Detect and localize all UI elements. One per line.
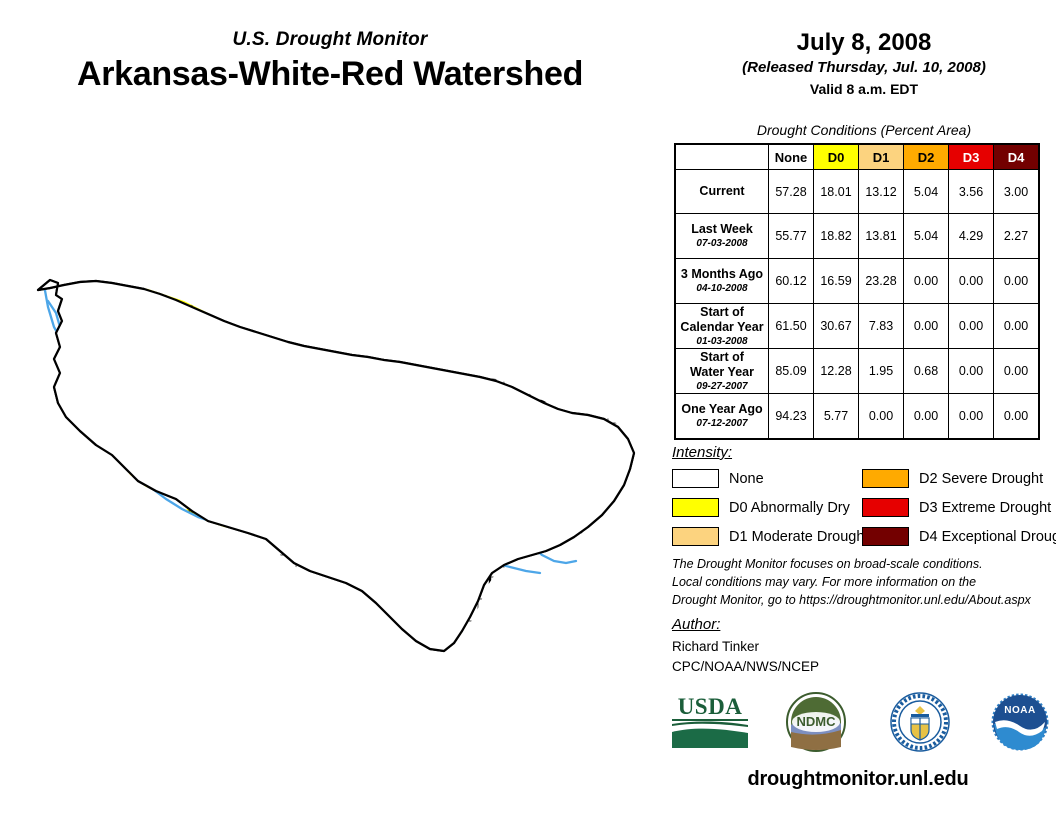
row-label: Last Week07-03-2008	[675, 214, 769, 259]
row-date: 09-27-2007	[676, 381, 768, 393]
cell-none: 61.50	[769, 304, 814, 349]
cell-d3: 0.00	[949, 349, 994, 394]
legend-item-d4: D4 Exceptional Drought	[862, 524, 1056, 549]
cell-d4: 3.00	[994, 170, 1040, 214]
cell-none: 94.23	[769, 394, 814, 439]
table-body: Current57.2818.0113.125.043.563.00Last W…	[675, 170, 1039, 439]
row-label: Start ofWater Year09-27-2007	[675, 349, 769, 394]
table-row: Start ofWater Year09-27-200785.0912.281.…	[675, 349, 1039, 394]
cell-d1: 1.95	[859, 349, 904, 394]
column-header-d4: D4	[994, 144, 1040, 170]
author-block: Richard Tinker CPC/NOAA/NWS/NCEP	[672, 637, 1052, 676]
row-label: 3 Months Ago04-10-2008	[675, 259, 769, 304]
cell-none: 85.09	[769, 349, 814, 394]
cell-d2: 0.00	[904, 304, 949, 349]
cell-d4: 0.00	[994, 259, 1040, 304]
author-affiliation: CPC/NOAA/NWS/NCEP	[672, 657, 1052, 677]
basin-outline-overlay	[38, 280, 634, 651]
legend-label-d1: D1 Moderate Drought	[729, 529, 868, 545]
cell-d0: 18.82	[814, 214, 859, 259]
row-date: 04-10-2008	[676, 283, 768, 295]
cell-d2: 0.00	[904, 394, 949, 439]
cell-d4: 0.00	[994, 304, 1040, 349]
table-header-row: None D0 D1 D2 D3 D4	[675, 144, 1039, 170]
cell-d3: 0.00	[949, 394, 994, 439]
cell-none: 55.77	[769, 214, 814, 259]
legend-swatch-d1	[672, 527, 719, 546]
table-row: Last Week07-03-200855.7718.8213.815.044.…	[675, 214, 1039, 259]
drought-map	[10, 255, 660, 655]
cell-d3: 4.29	[949, 214, 994, 259]
legend-swatch-d0	[672, 498, 719, 517]
column-header-none: None	[769, 144, 814, 170]
ndmc-logo: NDMC	[785, 692, 847, 752]
table-caption: Drought Conditions (Percent Area)	[672, 122, 1056, 138]
disclaimer-text: The Drought Monitor focuses on broad-sca…	[672, 556, 1052, 609]
cell-none: 57.28	[769, 170, 814, 214]
table-row: Start ofCalendar Year01-03-200861.5030.6…	[675, 304, 1039, 349]
row-date: 07-03-2008	[676, 238, 768, 250]
usdc-logo	[890, 692, 950, 752]
cell-d3: 3.56	[949, 170, 994, 214]
cell-d0: 12.28	[814, 349, 859, 394]
cell-d1: 0.00	[859, 394, 904, 439]
site-url: droughtmonitor.unl.edu	[660, 768, 1056, 791]
release-date: (Released Thursday, Jul. 10, 2008)	[672, 60, 1056, 77]
cell-d2: 5.04	[904, 170, 949, 214]
map-date: July 8, 2008	[672, 30, 1056, 56]
cell-d3: 0.00	[949, 259, 994, 304]
cell-d1: 23.28	[859, 259, 904, 304]
svg-text:USDA: USDA	[678, 694, 743, 719]
drought-conditions-table: None D0 D1 D2 D3 D4 Current57.2818.0113.…	[674, 143, 1040, 440]
legend-column-right: D2 Severe DroughtD3 Extreme DroughtD4 Ex…	[862, 466, 1056, 553]
row-label: Start ofCalendar Year01-03-2008	[675, 304, 769, 349]
legend-item-d3: D3 Extreme Drought	[862, 495, 1056, 520]
author-name: Richard Tinker	[672, 637, 1052, 657]
legend-label-d2: D2 Severe Drought	[919, 471, 1043, 487]
cell-d2: 5.04	[904, 214, 949, 259]
legend-column-left: NoneD0 Abnormally DryD1 Moderate Drought	[672, 466, 868, 553]
cell-d1: 13.81	[859, 214, 904, 259]
legend-label-d4: D4 Exceptional Drought	[919, 529, 1056, 545]
legend-item-d0: D0 Abnormally Dry	[672, 495, 868, 520]
program-title: U.S. Drought Monitor	[0, 30, 660, 50]
cell-d2: 0.68	[904, 349, 949, 394]
column-header-d3: D3	[949, 144, 994, 170]
cell-d3: 0.00	[949, 304, 994, 349]
usda-logo: USDA	[670, 692, 750, 750]
legend-item-d2: D2 Severe Drought	[862, 466, 1056, 491]
cell-d4: 2.27	[994, 214, 1040, 259]
cell-d2: 0.00	[904, 259, 949, 304]
disclaimer-line-2: Local conditions may vary. For more info…	[672, 574, 1052, 592]
date-block: July 8, 2008 (Released Thursday, Jul. 10…	[672, 30, 1056, 97]
table-row: One Year Ago07-12-200794.235.770.000.000…	[675, 394, 1039, 439]
cell-d0: 16.59	[814, 259, 859, 304]
cell-d0: 18.01	[814, 170, 859, 214]
row-date: 01-03-2008	[676, 336, 768, 348]
legend-item-d1: D1 Moderate Drought	[672, 524, 868, 549]
legend-label-d0: D0 Abnormally Dry	[729, 500, 850, 516]
row-label: One Year Ago07-12-2007	[675, 394, 769, 439]
column-header-d0: D0	[814, 144, 859, 170]
svg-text:NOAA: NOAA	[1004, 705, 1035, 716]
cell-d4: 0.00	[994, 394, 1040, 439]
legend-swatch-none	[672, 469, 719, 488]
title-block: U.S. Drought Monitor Arkansas-White-Red …	[0, 30, 660, 93]
noaa-logo: NOAA	[990, 692, 1050, 752]
legend-item-none: None	[672, 466, 868, 491]
table-header: None D0 D1 D2 D3 D4	[675, 144, 1039, 170]
region-title: Arkansas-White-Red Watershed	[0, 56, 660, 93]
cell-d4: 0.00	[994, 349, 1040, 394]
column-header-d2: D2	[904, 144, 949, 170]
disclaimer-line-3: Drought Monitor, go to https://droughtmo…	[672, 592, 1052, 610]
svg-text:NDMC: NDMC	[797, 714, 837, 729]
legend-label-d3: D3 Extreme Drought	[919, 500, 1051, 516]
table-row: 3 Months Ago04-10-200860.1216.5923.280.0…	[675, 259, 1039, 304]
valid-time: Valid 8 a.m. EDT	[672, 82, 1056, 97]
table-row: Current57.2818.0113.125.043.563.00	[675, 170, 1039, 214]
disclaimer-line-1: The Drought Monitor focuses on broad-sca…	[672, 556, 1052, 574]
header-corner-blank	[675, 144, 769, 170]
row-date: 07-12-2007	[676, 418, 768, 430]
row-label: Current	[675, 170, 769, 214]
cell-none: 60.12	[769, 259, 814, 304]
legend-swatch-d4	[862, 527, 909, 546]
logo-row: USDA NDMC NOAA	[660, 692, 1056, 754]
legend-swatch-d2	[862, 469, 909, 488]
legend-label-none: None	[729, 471, 764, 487]
legend-swatch-d3	[862, 498, 909, 517]
cell-d0: 5.77	[814, 394, 859, 439]
cell-d1: 7.83	[859, 304, 904, 349]
cell-d1: 13.12	[859, 170, 904, 214]
column-header-d1: D1	[859, 144, 904, 170]
author-heading: Author:	[672, 616, 720, 633]
watershed-map-svg	[10, 255, 660, 655]
intensity-legend-title: Intensity:	[672, 444, 732, 461]
cell-d0: 30.67	[814, 304, 859, 349]
